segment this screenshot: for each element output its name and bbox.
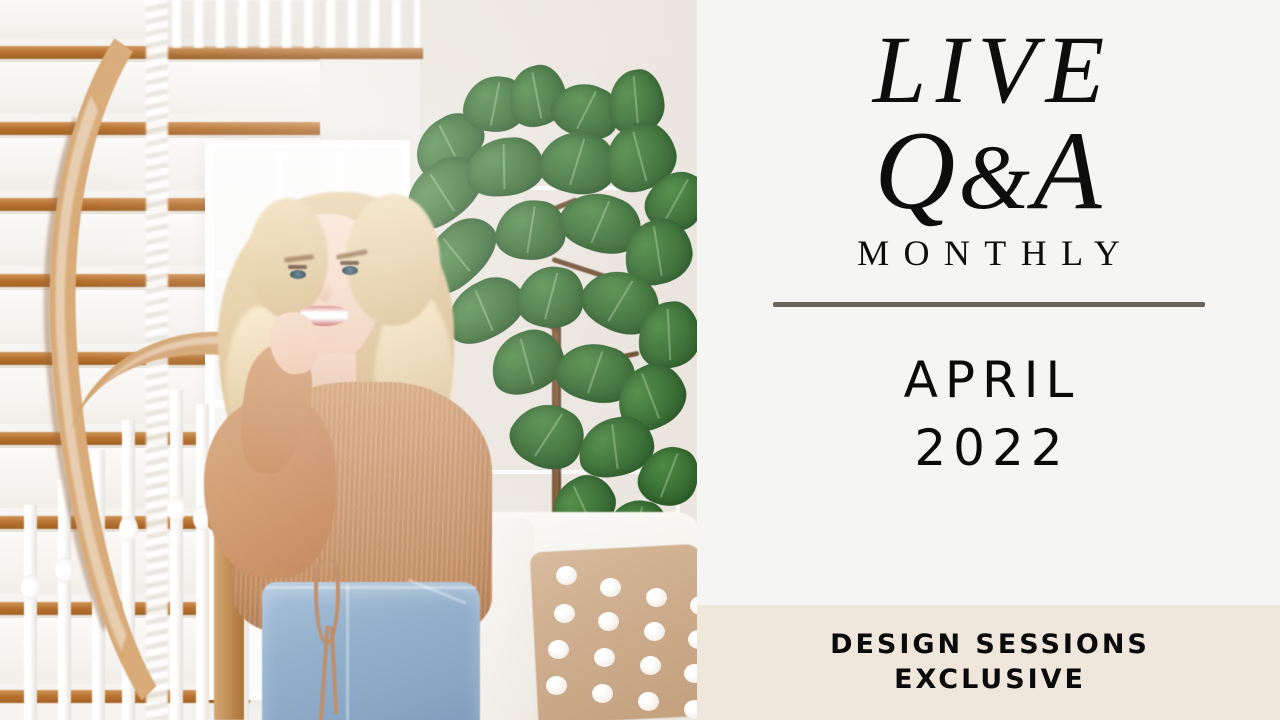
photo-scene: [0, 0, 697, 720]
pillow-pom: [644, 622, 665, 641]
pillow-pom: [600, 578, 621, 597]
pillow-pom: [554, 604, 575, 623]
title-q: Q: [874, 109, 956, 233]
pillow-pom: [646, 588, 667, 607]
title-live: LIVE: [863, 22, 1114, 118]
pillow-pom: [556, 566, 577, 585]
banner-line-1: DESIGN SESSIONS: [827, 628, 1150, 663]
text-panel: LIVE Q&A MONTHLY APRIL 2022 DESIGN SESSI…: [697, 0, 1280, 720]
jeans-waistband: [266, 586, 476, 589]
title-a: A: [1033, 109, 1103, 233]
pillow-pom: [592, 684, 613, 703]
blue-jeans: [262, 582, 480, 720]
eye-right: [342, 266, 358, 275]
pillow-pom: [546, 676, 567, 695]
title-subtitle-monthly: MONTHLY: [843, 232, 1135, 274]
hair-front-right: [346, 194, 440, 326]
date-month: APRIL: [897, 351, 1081, 409]
banner-line-2: EXCLUSIVE: [891, 663, 1086, 698]
subject-woman: [196, 186, 526, 720]
pillow-pom: [640, 656, 661, 675]
banner-band: DESIGN SESSIONS EXCLUSIVE: [697, 605, 1280, 720]
jeans-seam: [346, 584, 349, 720]
eyelid-left: [288, 265, 307, 269]
eyelid-right: [340, 261, 359, 265]
pillow-pom: [548, 640, 569, 659]
nose: [318, 282, 332, 302]
divider-rule: [773, 302, 1205, 307]
thumbnail-canvas: LIVE Q&A MONTHLY APRIL 2022 DESIGN SESSI…: [0, 0, 1280, 720]
eye-left: [290, 270, 306, 279]
pillow-pom: [594, 648, 615, 667]
title-block: LIVE Q&A MONTHLY APRIL 2022: [697, 0, 1280, 605]
title-qa: Q&A: [874, 114, 1102, 228]
title-ampersand: &: [956, 126, 1033, 228]
pillow-pom: [638, 692, 659, 711]
pillow-pom: [598, 612, 619, 631]
date-year: 2022: [907, 419, 1069, 477]
hero-photo: [0, 0, 697, 720]
